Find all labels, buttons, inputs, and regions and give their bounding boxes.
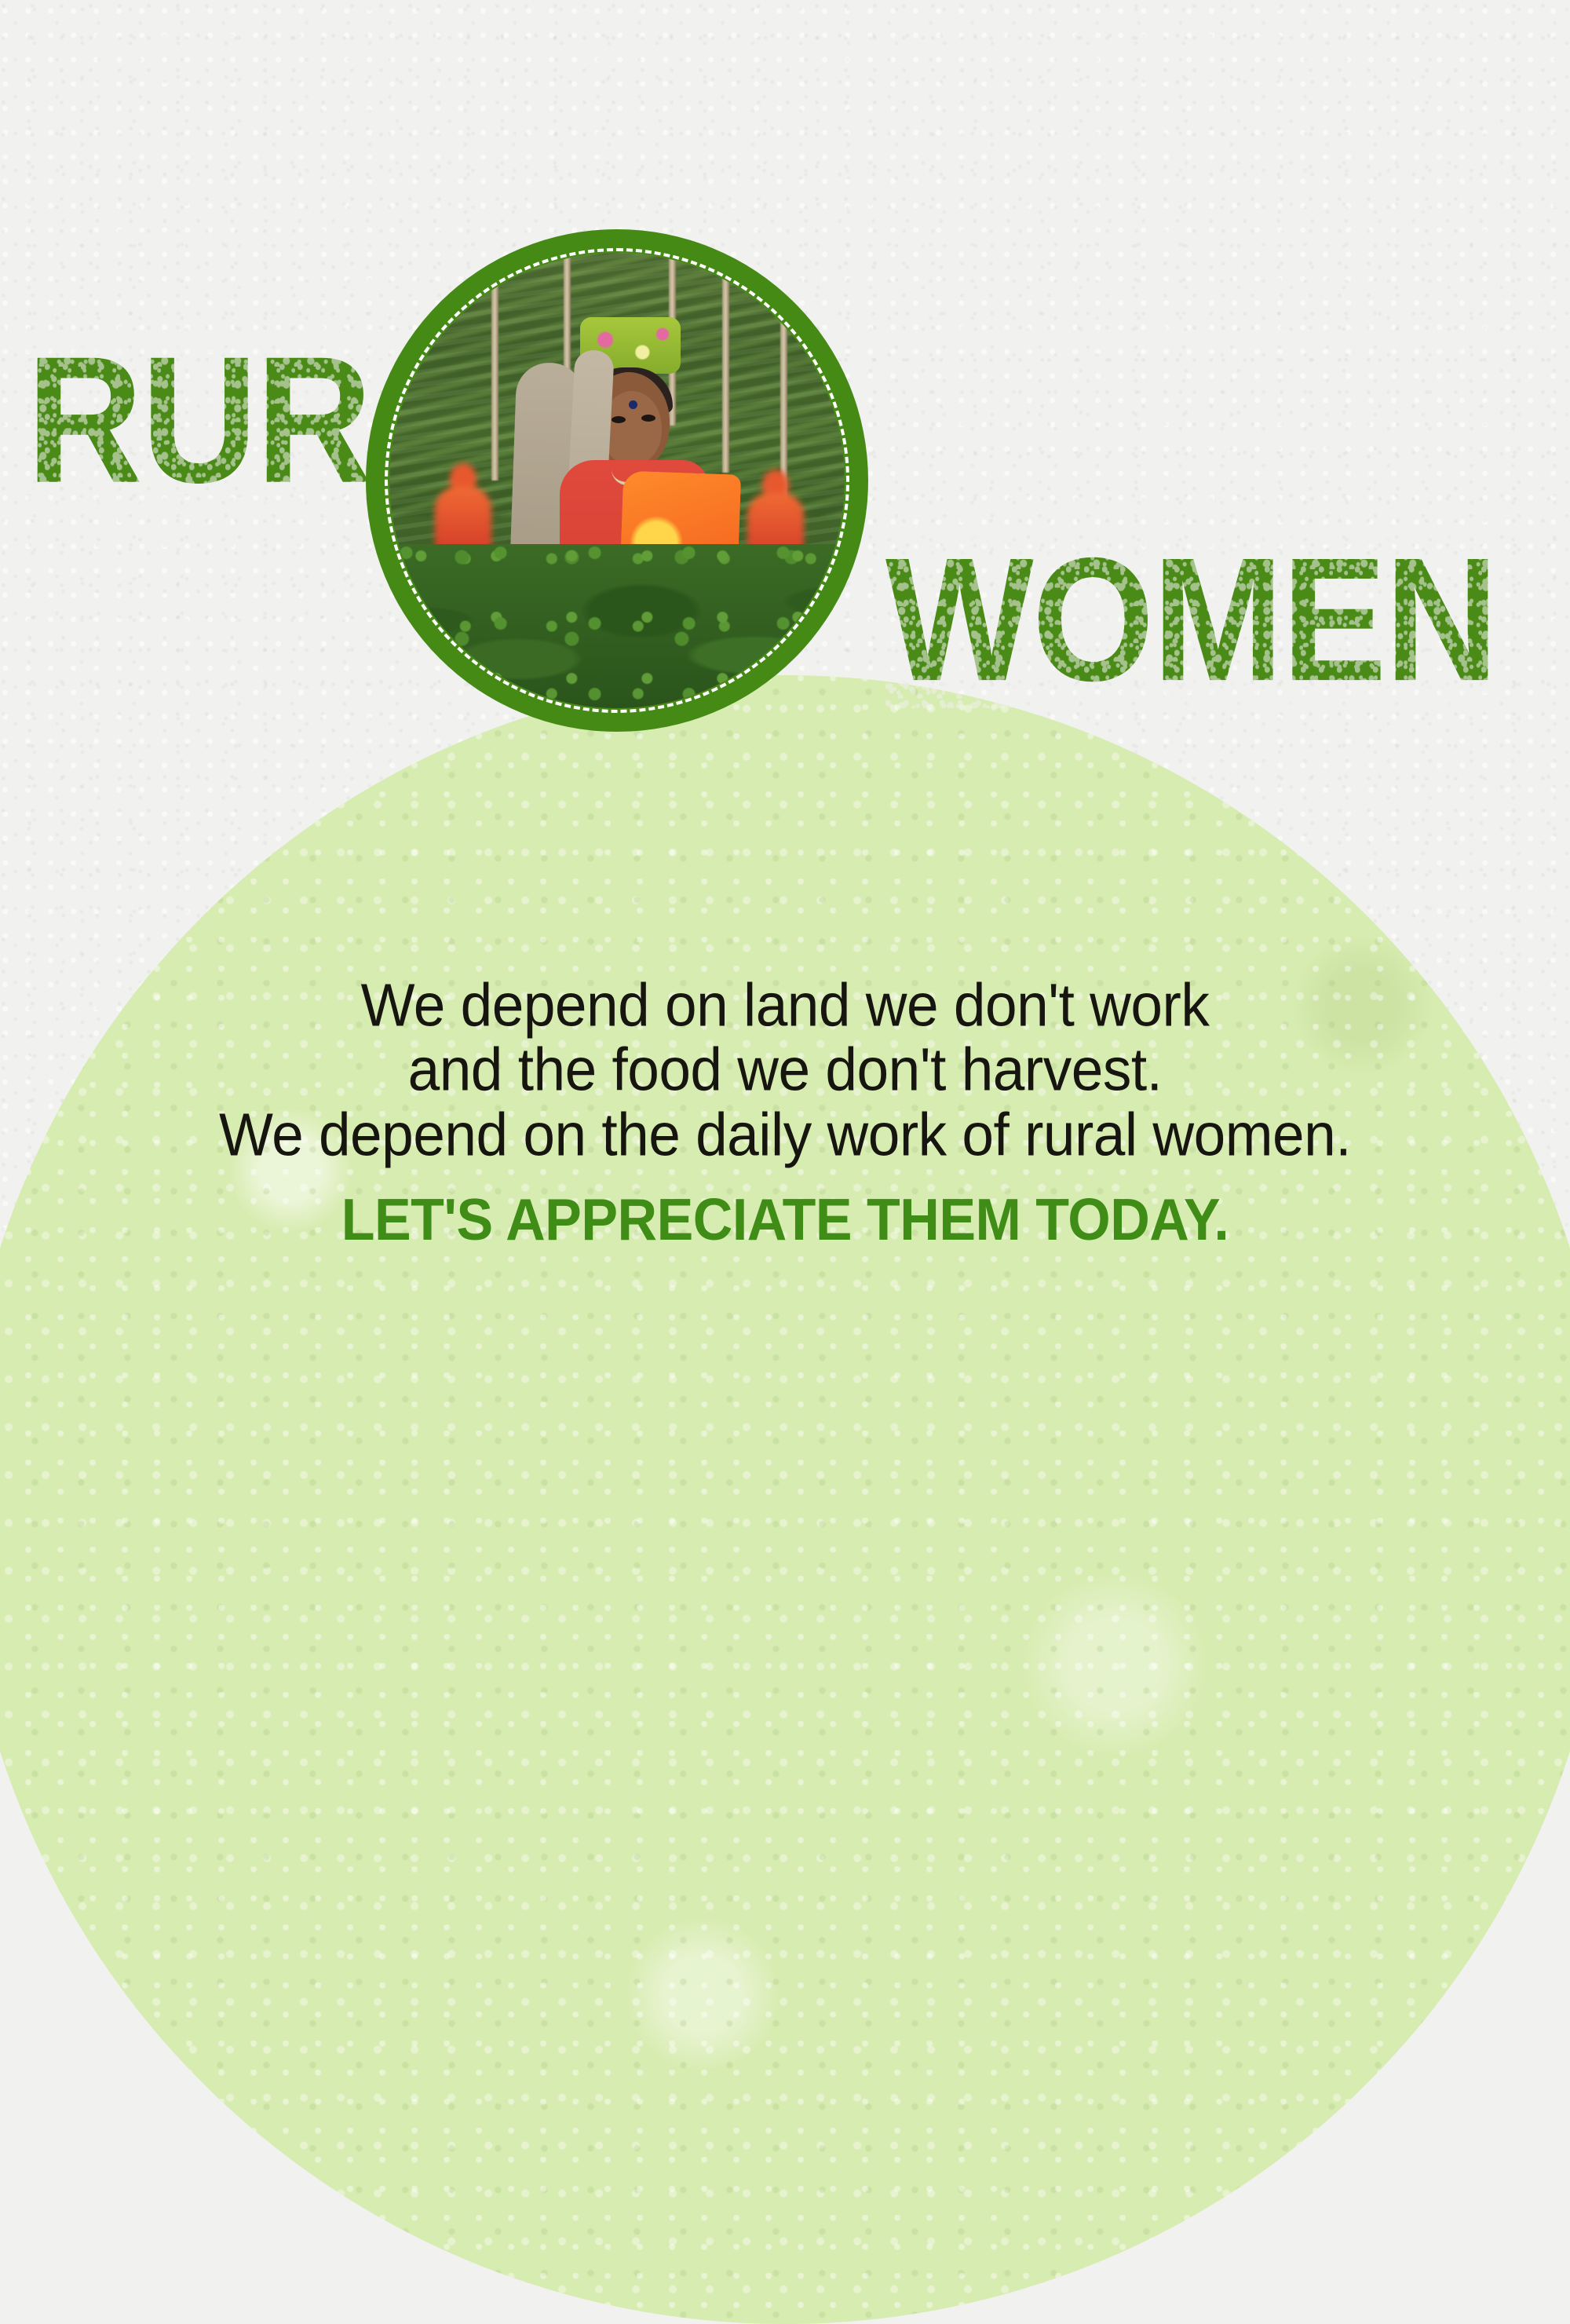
body-copy-block: We depend on land we don't work and the …: [0, 974, 1570, 1251]
tea-plantation-scene: [389, 253, 845, 708]
call-to-action-text: LET'S APPRECIATE THEM TODAY.: [0, 1186, 1570, 1253]
headline-word-women: WOMEN: [885, 532, 1497, 708]
tree-trunk-icon: [780, 253, 787, 504]
headline-word-women-text: WOMEN: [885, 522, 1497, 718]
light-green-circle-shape: [0, 675, 1570, 2324]
circular-photo: [389, 253, 845, 708]
circular-photo-frame: [366, 229, 868, 732]
leaf-highlights: [389, 503, 845, 708]
copy-line-2: and the food we don't harvest.: [0, 1036, 1570, 1105]
copy-line-3: We depend on the daily work of rural wom…: [0, 1101, 1570, 1169]
copy-line-1: We depend on land we don't work: [0, 972, 1570, 1040]
